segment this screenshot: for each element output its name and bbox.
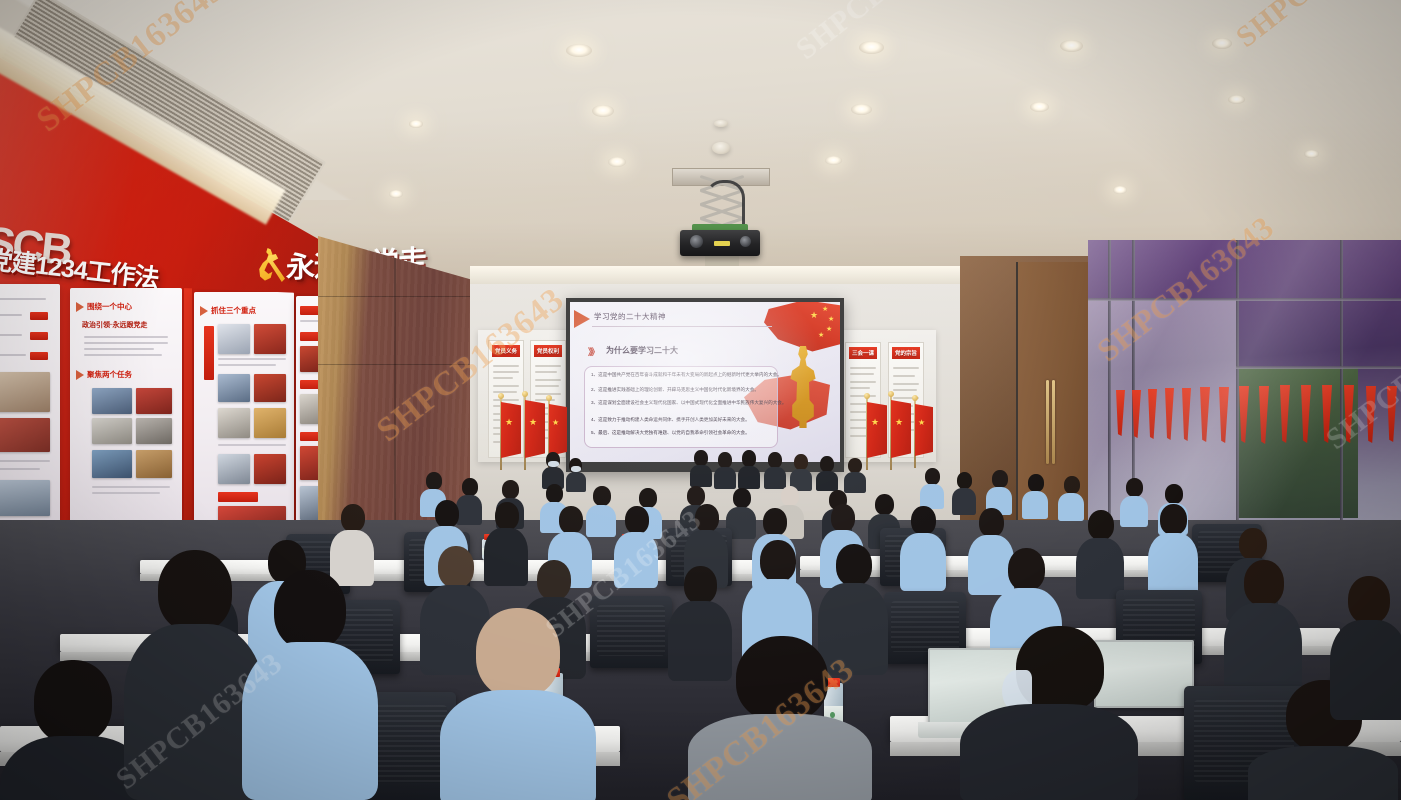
attendee [920, 468, 944, 508]
slide-section-marker: 》》 [588, 345, 598, 358]
exhibition-board-wall: 围绕一个中心 政治引领·永远跟党走 聚焦两个任务 抓住三个重点 [0, 252, 324, 562]
attendee [688, 636, 872, 800]
door-handle[interactable] [1052, 380, 1055, 464]
attendee [900, 506, 946, 590]
slide-title-marker [574, 310, 590, 328]
projection-screen: ★ ★ ★ ★ ★ 学习党的二十大精神 》》 为什么要学习二十大 1、这是中国共… [570, 302, 840, 462]
slide-bullet-box: 1、这是中国共产党在百年奋斗成就和千年未有大变局的新起点上的继新时代更大举内的大… [584, 366, 778, 448]
smoke-detector-icon [714, 120, 728, 127]
projector-lens-icon [690, 235, 703, 248]
downlight [389, 190, 403, 198]
downlight [859, 41, 884, 54]
board-title: 围绕一个中心 [87, 301, 132, 312]
attendee [1224, 560, 1302, 700]
slide-bullet: 2、这是推进实践基础上的理论创新、开辟马克思主义中国化时代化新境界的大会。 [591, 387, 759, 393]
slide-title: 学习党的二十大精神 [594, 311, 666, 322]
attendee [542, 452, 564, 488]
projector-status-led [714, 241, 730, 246]
cpc-emblem-icon [255, 246, 289, 286]
panel-title: 党的宗旨 [895, 349, 917, 357]
downlight [825, 156, 842, 165]
attendee [738, 450, 760, 488]
attendee [1330, 576, 1401, 716]
attendee [690, 450, 712, 486]
exhibition-board: 抓住三个重点 [194, 292, 294, 538]
board-divider [184, 288, 192, 538]
board-subtitle: 政治引领·永远跟党走 [82, 320, 147, 330]
downlight [409, 120, 423, 128]
downlight [1060, 40, 1083, 52]
downlight [608, 157, 626, 167]
board-title: 聚焦两个任务 [87, 369, 132, 380]
attendee [790, 454, 812, 490]
attendee [816, 456, 838, 490]
downlight [1030, 102, 1049, 112]
downlight [592, 105, 614, 117]
chinese-flag: ★ [866, 398, 888, 470]
slide-bullet: 4、这是致力于推动构建人类命运共同体、携手开创人类更加美好未来的大会。 [591, 417, 750, 423]
chinese-flag: ★ [914, 400, 934, 468]
attendee [1076, 510, 1124, 598]
panel-title: 党员义务 [495, 347, 517, 355]
attendee [844, 458, 866, 492]
conference-chair[interactable] [590, 596, 672, 668]
panel-header: 党的宗旨 [892, 347, 920, 359]
hanging-red-banner [1387, 386, 1397, 442]
projector-lens-icon [740, 236, 751, 247]
slide-bullet: 1、这是中国共产党在百年奋斗成就和千年未有大变局的新起点上的继新时代更大举内的大… [591, 372, 782, 378]
downlight [851, 104, 872, 115]
door-handle[interactable] [1046, 380, 1049, 464]
attendee [1022, 474, 1048, 518]
attendee [960, 626, 1138, 800]
hanging-red-banner [1366, 386, 1376, 443]
slide-bullet: 3、这是谋划全面建设社会主义现代化国家、以中国式现代化全面推进中华民族伟大复兴的… [591, 400, 787, 406]
downlight [1113, 186, 1127, 194]
chinese-flag: ★ [500, 398, 522, 470]
downlight [1228, 95, 1245, 104]
attendee [566, 458, 586, 490]
downlight [1212, 38, 1232, 49]
panel-header: 三会一课 [849, 347, 877, 359]
attendee [764, 452, 786, 488]
attendee [440, 608, 596, 800]
attendee [242, 570, 378, 800]
attendee [1120, 478, 1148, 526]
slide-subtitle: 为什么要学习二十大 [606, 345, 678, 356]
downlight [566, 44, 592, 57]
attendee [614, 506, 658, 586]
slide-bullet: 5、最后、这是推动解决大党独有难题、以党的自我革命引领社会革命的大会。 [591, 430, 750, 436]
panel-header: 党员义务 [492, 345, 520, 357]
attendee [714, 452, 736, 488]
photo-scene: SCB 党建1234工作法 永远跟党走 围绕一个中心 政治引 [0, 0, 1401, 800]
smoke-detector-icon [712, 142, 730, 154]
attendee [1148, 504, 1198, 596]
board-title: 抓住三个重点 [211, 305, 256, 316]
exhibition-board [0, 284, 60, 524]
exhibition-board: 围绕一个中心 政治引领·永远跟党走 聚焦两个任务 [70, 288, 182, 532]
chinese-flag: ★ [890, 396, 912, 470]
panel-header: 党员权利 [534, 345, 562, 357]
downlight [1304, 150, 1319, 158]
panel-title: 党员权利 [537, 347, 559, 355]
panel-title: 三会一课 [852, 349, 874, 357]
